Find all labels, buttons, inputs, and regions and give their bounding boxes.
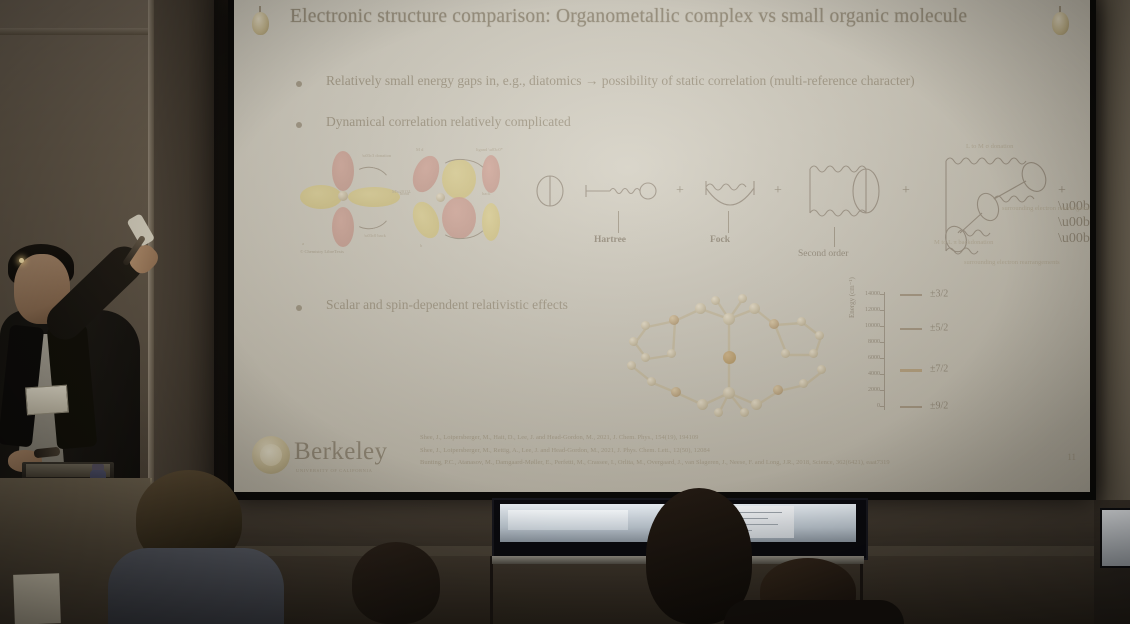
annotation-rearrangement-1: surrounding electron rearrangements [1002,205,1090,212]
reference-item: Bunting, P.C., Atanasov, M., Damgaard-Mø… [420,457,1080,470]
figure-credit: © Chemistry LibreTexts [300,249,344,254]
level-label: ±3/2 [930,289,948,300]
y-tick-label: 6000 [868,355,880,361]
feynman-diagram-expansion: + + + + \u00b7 \u00b7 \u00b7 Hartree Foc… [534,155,1090,265]
annotation-rearrangement-2: surrounding electron rearrangements [964,259,1060,266]
berkeley-seal-icon [252,436,290,474]
reference-item: Shee, J., Loipersberger, M., Hait, D., L… [420,432,1080,445]
y-tick-label: 2000 [868,387,880,393]
level-label: ±7/2 [930,364,948,375]
orbital-interaction-figure: \u03c3 donation M\u2013L \u03c0 back a M… [296,145,504,265]
wall-trim [0,28,152,35]
laser-pointer-light [19,258,24,263]
energy-axis-label: Energy (cm⁻¹) [848,277,856,318]
y-tick-label: 0 [877,403,880,409]
reference-list: Shee, J., Loipersberger, M., Hait, D., L… [420,432,1080,470]
energy-level-diagram: Energy (cm⁻¹) 0 2000 4000 6000 8000 1000… [850,288,1000,418]
audience-shoulders [724,600,904,624]
y-tick-label: 12000 [865,307,880,313]
decorative-lamp-icon [1052,6,1069,38]
berkeley-logo: Berkeley UNIVERSITY OF CALIFORNIA [252,432,402,484]
bullet-dot [296,81,302,87]
slide-title: Electronic structure comparison: Organom… [290,6,1050,28]
annotation-sigma-donation: L to M σ donation [966,143,1013,150]
y-tick-label: 4000 [868,371,880,377]
bullet-dot [296,305,302,311]
slide-number: 11 [1067,452,1076,462]
bullet-item-3: Scalar and spin-dependent relativistic e… [326,297,568,313]
berkeley-subtitle: UNIVERSITY OF CALIFORNIA [296,468,372,473]
cabinet-seam [490,556,493,624]
y-tick-label: 10000 [865,323,880,329]
name-badge [25,385,69,416]
lecture-room-photo: Electronic structure comparison: Organom… [0,0,1130,624]
right-wall [1094,0,1130,500]
paper-sheet [13,573,61,624]
bullet-item-1: Relatively small energy gaps in, e.g., d… [326,73,915,89]
side-monitor [1100,508,1130,568]
y-tick-label: 8000 [868,339,880,345]
bullet-dot [296,122,302,128]
reference-item: Shee, J., Loipersberger, M., Rettig, A.,… [420,445,1080,458]
audience-shoulders [108,548,284,624]
feynman-label-fock: Fock [710,235,730,245]
y-tick-label: 14000 [865,291,880,297]
projected-slide: Electronic structure comparison: Organom… [234,0,1090,492]
molecular-structure-figure [619,297,839,417]
level-label: ±5/2 [930,323,948,334]
feynman-label-second-order: Second order [798,249,848,259]
feynman-label-hartree: Hartree [594,235,626,245]
berkeley-wordmark: Berkeley [294,438,387,466]
decorative-lamp-icon [252,6,269,38]
bullet-item-2: Dynamical correlation relatively complic… [326,114,571,130]
audience-head [352,542,440,624]
level-label: ±9/2 [930,401,948,412]
annotation-pi-backdonation: M to L π backdonation [934,239,993,246]
